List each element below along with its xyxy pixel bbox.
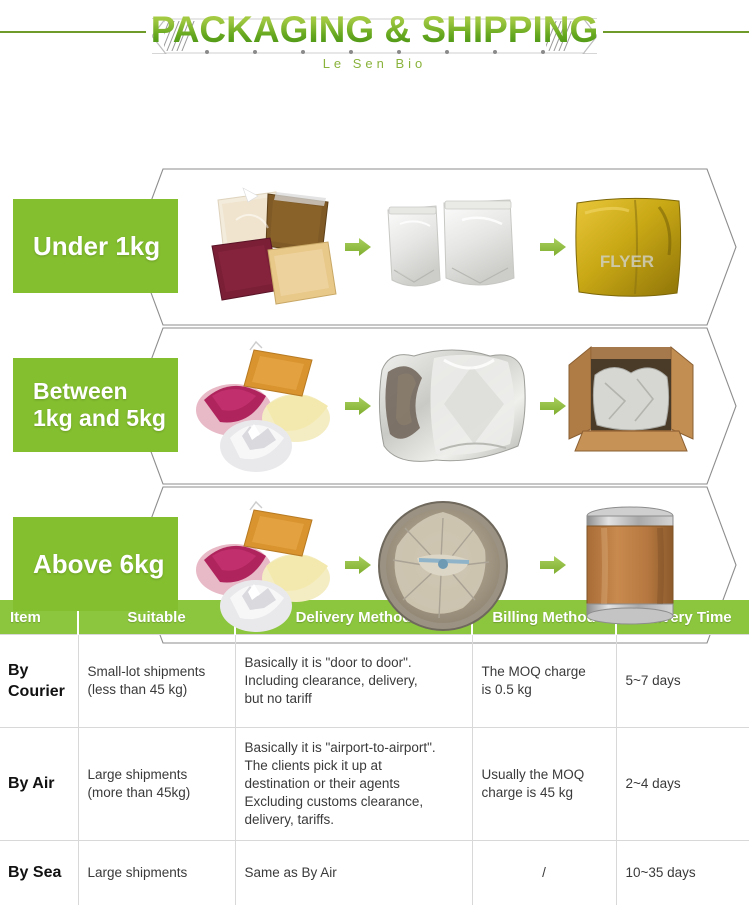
cell-billing-method: The MOQ charge is 0.5 kg [472,635,616,728]
page-header: PACKAGING & SHIPPING Le Sen Bio [0,0,749,86]
panel-label-text: Under 1kg [33,231,160,262]
panel-label-between-1kg-and-5kg: Between 1kg and 5kg [13,358,178,452]
stage-open-fiber-drum-with-liner-3 [377,500,509,632]
panel-label-text: Between 1kg and 5kg [33,378,166,432]
cell-delivery-time: 5~7 days [616,635,749,728]
flow-arrow-3-2 [540,556,566,574]
shipping-methods-table: Item Suitable Delivery Method Billing Me… [0,600,749,905]
panel-label-text: Above 6kg [33,549,165,580]
stage-assorted-sealed-powder-pouches-1 [188,186,338,308]
cell-suitable: Large shipments (more than 45kg) [78,728,235,841]
table-row: By Sea Large shipments Same as By Air / … [0,841,749,905]
cell-item: By Air [0,728,78,841]
flow-arrow-2-2 [540,397,566,415]
page-title: PACKAGING & SHIPPING [0,10,749,50]
panel-label-line-1: Between [33,378,128,404]
table-row: By Courier Small-lot shipments (less tha… [0,635,749,728]
stage-gold-poly-mailer-1: FLYER [573,195,685,300]
cell-billing-method: / [472,841,616,905]
cell-delivery-method: Same as By Air [235,841,472,905]
stage-clear-vacuum-bags-1 [382,198,522,294]
header-dot-row [205,50,545,55]
flow-arrow-3-1 [345,556,371,574]
cell-billing-method: Usually the MOQ charge is 45 kg [472,728,616,841]
cell-suitable: Large shipments [78,841,235,905]
cell-delivery-time: 10~35 days [616,841,749,905]
table-row: By Air Large shipments (more than 45kg) … [0,728,749,841]
stage-assorted-powder-heap-3 [190,498,332,634]
flow-arrow-1-2 [540,238,566,256]
panel-label-line-2: 1kg and 5kg [33,405,166,431]
brand-subtitle: Le Sen Bio [0,56,749,71]
cell-item: By Sea [0,841,78,905]
cell-delivery-time: 2~4 days [616,728,749,841]
cell-suitable: Small-lot shipments (less than 45 kg) [78,635,235,728]
flow-arrow-2-1 [345,397,371,415]
panel-label-under-1kg: Under 1kg [13,199,178,293]
stage-large-aluminium-foil-bag-2 [374,342,528,468]
cell-delivery-method: Basically it is "airport-to-airport". Th… [235,728,472,841]
stage-carton-box-with-liner-2 [565,339,697,464]
flow-arrow-1-1 [345,238,371,256]
packaging-flow-panels: Under 1kg [0,86,749,586]
mailer-brand-text: FLYER [600,252,654,271]
cell-delivery-method: Basically it is "door to door". Includin… [235,635,472,728]
panel-label-above-6kg: Above 6kg [13,517,178,611]
stage-sealed-fiber-drum-3 [580,504,680,626]
cell-item: By Courier [0,635,78,728]
stage-assorted-powder-heap-2 [190,338,332,474]
